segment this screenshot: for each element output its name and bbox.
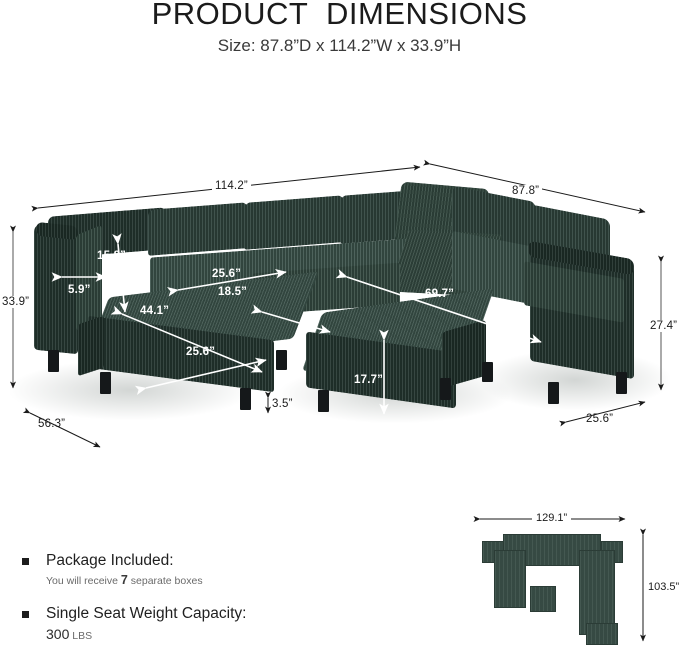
info-item-package: Package Included: You will receive 7 sep… [22, 552, 352, 587]
page-subtitle: Size: 87.8”D x 114.2”W x 33.9”H [0, 36, 679, 56]
dimension-label-arm-width: 5.9” [68, 284, 91, 296]
info-item-weight: Single Seat Weight Capacity: 300 LBS [22, 605, 352, 642]
dimension-label-backrest-height: 15.8” [97, 250, 126, 262]
dimension-label-seat-depth: 18.5” [218, 286, 247, 298]
dimension-label-long-side: 69.7” [425, 288, 454, 300]
info-sub-package: You will receive 7 separate boxes [46, 573, 352, 587]
bullet-square-icon [22, 558, 29, 565]
floorplan-diagram: 129.1” 103.5” [470, 505, 670, 645]
dimension-label-leg-height: 3.5” [272, 398, 293, 410]
floorplan-dimension-overlay [470, 505, 670, 645]
back-cushion-2 [244, 195, 344, 250]
floorplan-height-label: 103.5” [648, 581, 679, 593]
page-title: PRODUCT DIMENSIONS [0, 0, 679, 32]
package-post-text: separate boxes [128, 575, 203, 587]
weight-capacity-value: 300 [46, 626, 69, 642]
back-cushion-1 [148, 202, 248, 256]
package-pre-text: You will receive [46, 575, 121, 587]
ottoman-leg-right [440, 378, 451, 400]
dimension-label-left-depth: 56.3” [38, 418, 65, 430]
chaise-side-face [78, 316, 104, 376]
dimension-label-cushion-width: 25.6” [212, 268, 241, 280]
floorplan-width-label: 129.1” [532, 512, 571, 524]
dimension-label-chaise-width: 25.6” [186, 346, 215, 358]
right-wing-leg [482, 362, 493, 382]
dimension-label-ottoman-height: 17.7” [354, 374, 383, 386]
dimension-label-overall-depth: 87.8” [509, 185, 542, 197]
package-box-count: 7 [121, 573, 128, 587]
dimension-label-back-height: 27.4” [648, 320, 679, 332]
right-arm-leg-front [548, 382, 559, 404]
chaise-leg-right [240, 388, 251, 410]
ottoman-leg-left [318, 390, 329, 412]
dimension-label-overall-height: 33.9” [0, 296, 31, 308]
chaise-leg-left [100, 372, 111, 394]
sofa-illustration [0, 150, 679, 450]
left-arm-leg [48, 350, 59, 372]
dimension-label-chaise-length: 44.1” [140, 305, 169, 317]
back-row-leg [276, 350, 287, 370]
info-list: Package Included: You will receive 7 sep… [22, 552, 352, 660]
dimension-label-overall-width: 114.2” [212, 180, 251, 192]
weight-capacity-unit: LBS [69, 630, 92, 642]
dimension-label-right-module: 25.6” [586, 413, 613, 425]
info-sub-weight: 300 LBS [46, 626, 352, 642]
info-title-package: Package Included: [46, 552, 352, 570]
bullet-square-icon-2 [22, 611, 29, 618]
info-title-weight: Single Seat Weight Capacity: [46, 605, 352, 623]
right-arm-leg-back [616, 372, 627, 394]
